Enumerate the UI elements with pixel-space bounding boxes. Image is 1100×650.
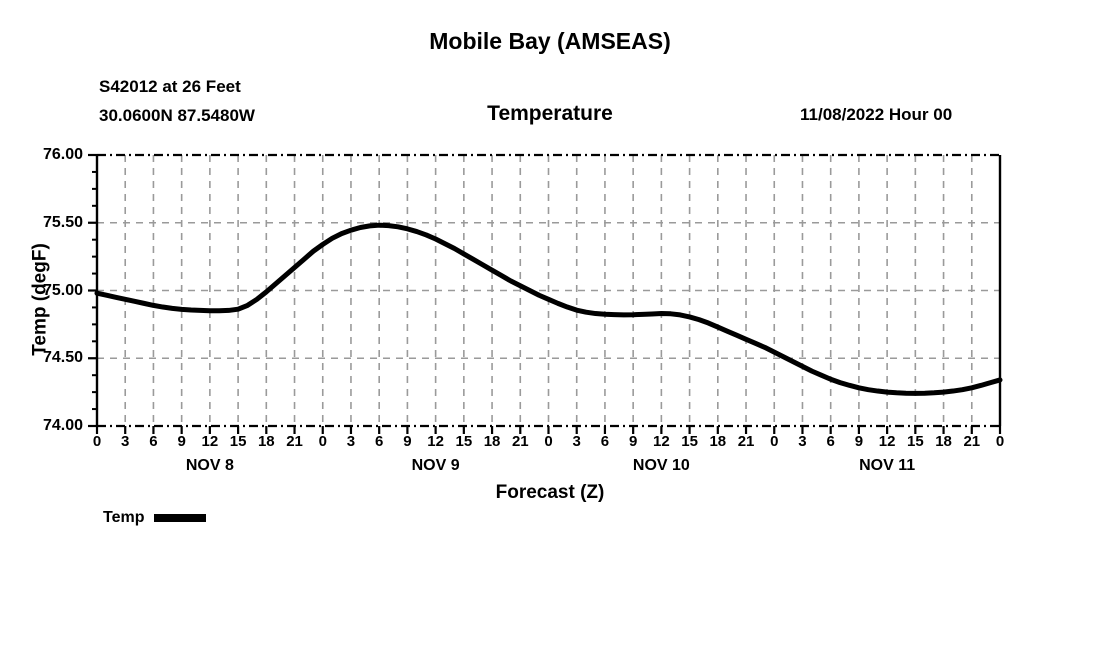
legend: Temp [103,509,206,527]
plot-area [0,0,1100,650]
forecast-chart-figure: Mobile Bay (AMSEAS) S42012 at 26 Feet 30… [0,0,1100,650]
legend-label-temp: Temp [103,509,144,527]
legend-swatch-temp [154,514,206,522]
